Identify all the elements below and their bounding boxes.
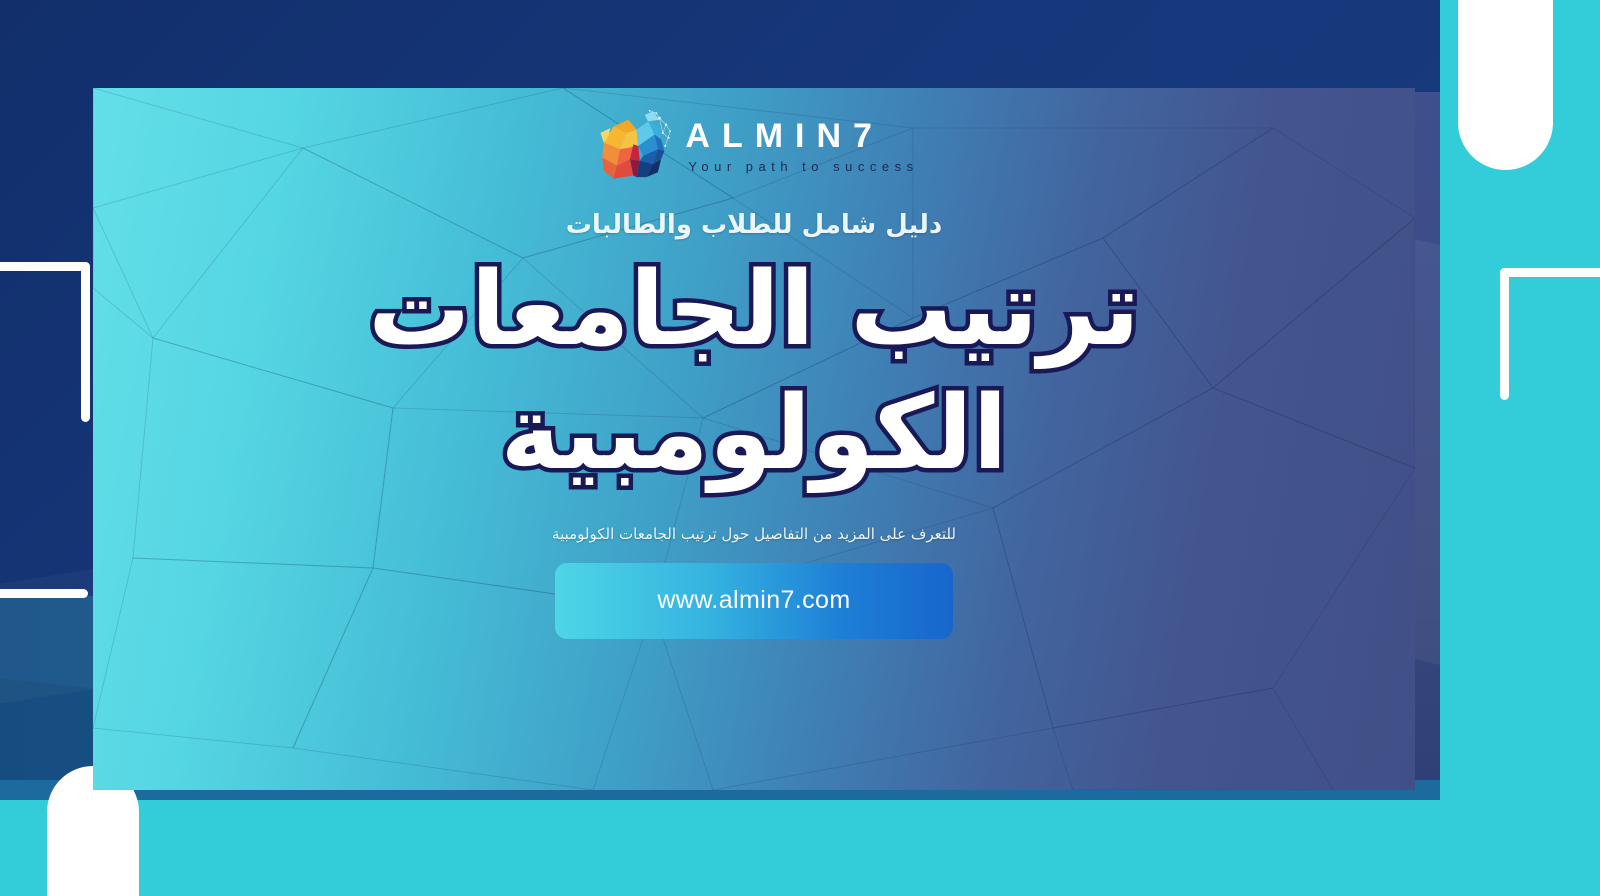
decor-bracket-right	[1500, 268, 1600, 400]
poster-stage: ALMIN7 Your path to success دليل شامل لل…	[0, 0, 1600, 896]
brand-name: ALMIN7	[685, 119, 918, 153]
poster-card: ALMIN7 Your path to success دليل شامل لل…	[93, 88, 1415, 790]
website-cta-label: www.almin7.com	[657, 586, 850, 615]
poster-title-line-2: الكولومبية	[368, 374, 1140, 494]
brand-logo: ALMIN7 Your path to success	[589, 108, 918, 184]
low-poly-brain-icon	[589, 108, 671, 184]
poster-title: ترتيب الجامعات الكولومبية	[368, 250, 1140, 495]
card-content: ALMIN7 Your path to success دليل شامل لل…	[93, 88, 1415, 790]
background-cyan-strip	[0, 800, 1600, 896]
poster-caption: للتعرف على المزيد من التفاصيل حول ترتيب …	[552, 525, 956, 543]
decor-bracket-segment	[0, 589, 88, 598]
decor-bracket-segment	[81, 262, 90, 422]
website-cta-button[interactable]: www.almin7.com	[555, 563, 953, 639]
decor-bracket-segment	[1500, 268, 1600, 277]
poster-subtitle: دليل شامل للطلاب والطالبات	[566, 210, 942, 240]
decor-bracket-left	[0, 262, 90, 598]
decor-pill-top-right	[1458, 0, 1553, 170]
brand-tagline: Your path to success	[688, 160, 918, 173]
decor-bracket-segment	[0, 262, 90, 271]
brand-wordmark: ALMIN7 Your path to success	[685, 119, 918, 173]
decor-bracket-segment	[1500, 268, 1509, 400]
poster-title-line-1: ترتيب الجامعات	[368, 250, 1140, 370]
